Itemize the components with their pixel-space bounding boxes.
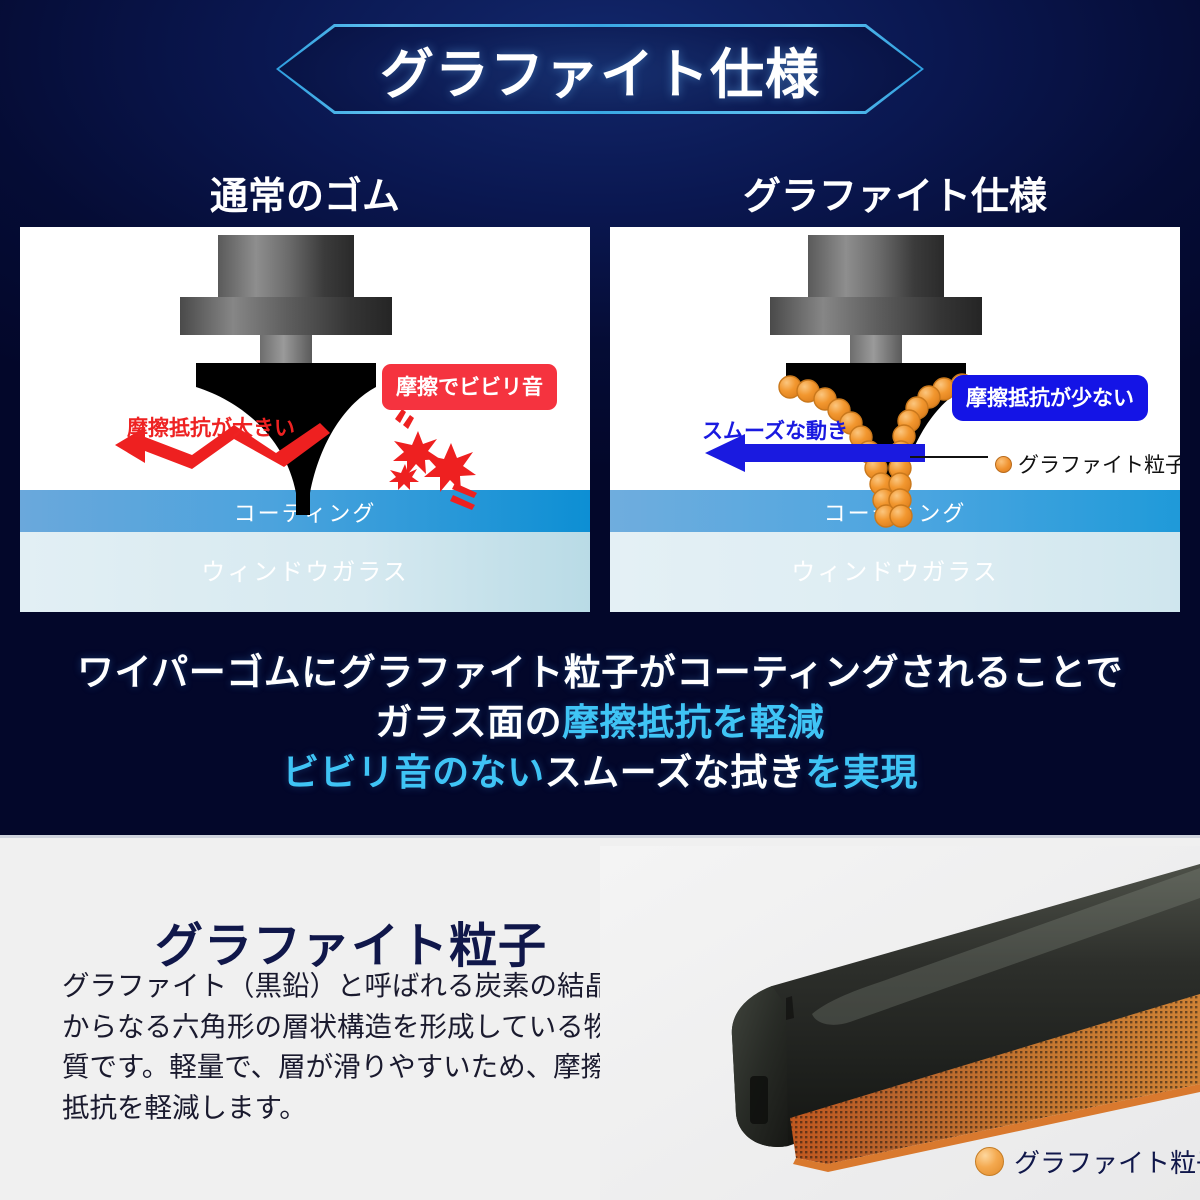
infographic-page: グラファイト仕様 通常のゴム グラファイト仕様 コーティング ウィンドウガラス [0, 0, 1200, 1200]
graphite-particle-legend-label: グラファイト粒子 [1018, 449, 1180, 479]
chatter-spark-icon [389, 409, 477, 510]
badge-friction-noise: 摩擦でビビリ音 [382, 364, 557, 410]
label-smooth-move: スムーズな動き [702, 415, 848, 445]
bottom-graphite-legend: グラファイト粒子 [975, 1143, 1200, 1180]
bottom-legend-label: グラファイト粒子 [1014, 1143, 1200, 1180]
summary-line-1: ワイパーゴムにグラファイト粒子がコーティングされることで [0, 648, 1200, 698]
bottom-section-body: グラファイト（黒鉛）と呼ばれる炭素の結晶からなる六角形の層状構造を形成している物… [62, 966, 627, 1129]
header-banner: グラファイト仕様 [276, 24, 924, 114]
summary-line-3-highlight-a: ビビリ音のない [282, 752, 545, 793]
summary-line-3-plain: スムーズな拭き [545, 752, 806, 793]
panel-heading-graphite: グラファイト仕様 [610, 165, 1180, 220]
summary-line-2: ガラス面の摩擦抵抗を軽減 [0, 698, 1200, 748]
label-high-friction: 摩擦抵抗が大きい [127, 412, 295, 442]
wiper-diagram-left [20, 227, 590, 612]
badge-low-friction: 摩擦抵抗が少ない [952, 375, 1148, 421]
graphite-particle-dot-icon-large [975, 1147, 1004, 1176]
diagram-panel-graphite: コーティング ウィンドウガラス [610, 227, 1180, 612]
summary-text-block: ワイパーゴムにグラファイト粒子がコーティングされることで ガラス面の摩擦抵抗を軽… [0, 648, 1200, 798]
panel-heading-normal-rubber: 通常のゴム [20, 165, 590, 220]
diagram-panel-normal-rubber: コーティング ウィンドウガラス [20, 227, 590, 612]
graphite-particle-legend: グラファイト粒子 [995, 449, 1180, 479]
summary-line-2-highlight: 摩擦抵抗を軽減 [562, 702, 825, 743]
top-dark-section: グラファイト仕様 通常のゴム グラファイト仕様 コーティング ウィンドウガラス [0, 0, 1200, 838]
summary-line-3: ビビリ音のないスムーズな拭きを実現 [0, 748, 1200, 798]
summary-line-2-plain: ガラス面の [375, 702, 562, 743]
summary-line-3-highlight-b: を実現 [805, 752, 918, 793]
graphite-particle-dot-icon [995, 456, 1012, 473]
page-title: グラファイト仕様 [276, 24, 924, 114]
